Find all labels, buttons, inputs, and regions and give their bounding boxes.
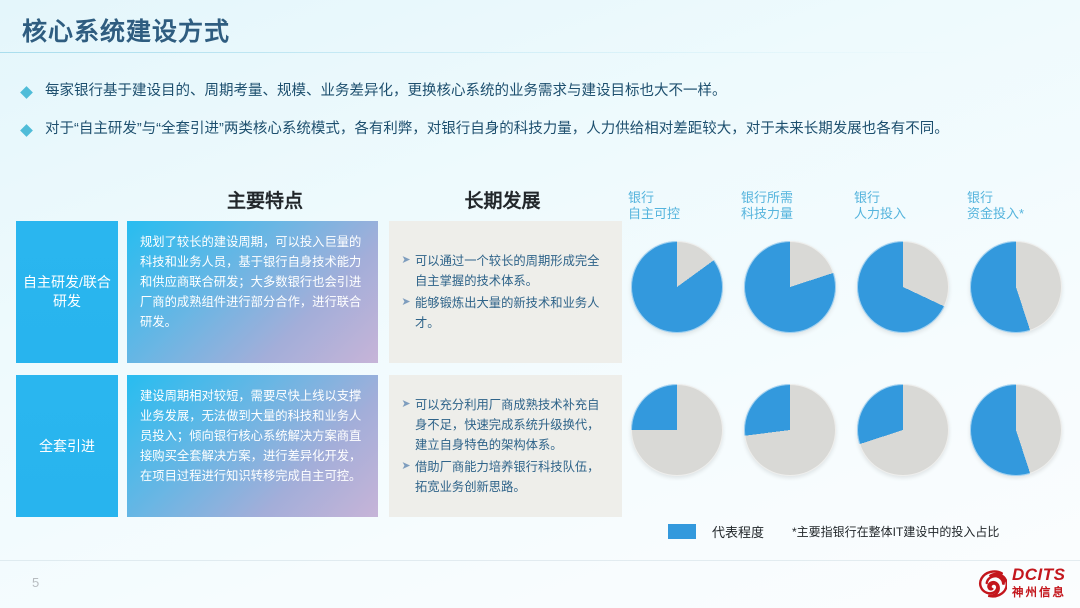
pie-row — [620, 241, 1072, 333]
comparison-table: 自主研发/联合研发 规划了较长的建设周期，可以投入巨量的科技和业务人员，基于银行… — [16, 221, 622, 529]
logo-en-text: DCITS — [1012, 565, 1066, 584]
row-longterm: ➤ 可以充分利用厂商成熟技术补充自身不足，快速完成系统升级换代，建立自身特色的架… — [389, 375, 622, 517]
page-number: 5 — [32, 575, 39, 590]
pie-column-header: 银行 人力投入 — [846, 190, 959, 223]
pie-chart — [970, 241, 1062, 333]
pie-chart — [631, 384, 723, 476]
list-item-text: 可以通过一个较长的周期形成完全自主掌握的技术体系。 — [415, 252, 610, 292]
list-item: ➤ 借助厂商能力培养银行科技队伍，拓宽业务创新思路。 — [397, 458, 610, 498]
pie-header-line2: 资金投入* — [967, 206, 1072, 222]
table-row: 全套引进 建设周期相对较短，需要尽快上线以支撑业务发展，无法做到大量的科技和业务… — [16, 375, 622, 517]
bullet-item: 对于“自主研发”与“全套引进”两类核心系统模式，各有利弊，对银行自身的科技力量，… — [22, 120, 1062, 138]
row-label: 自主研发/联合研发 — [16, 221, 118, 363]
bullet-item: 每家银行基于建设目的、周期考量、规模、业务差异化，更换核心系统的业务需求与建设目… — [22, 82, 1062, 100]
row-description: 建设周期相对较短，需要尽快上线以支撑业务发展，无法做到大量的科技和业务人员投入；… — [127, 375, 378, 517]
pie-chart — [631, 241, 723, 333]
diamond-bullet-icon — [20, 86, 33, 99]
pie-chart — [744, 241, 836, 333]
pie-header-line1: 银行 — [967, 190, 1072, 206]
pie-header-line2: 科技力量 — [741, 206, 846, 222]
pie-cell — [959, 241, 1072, 333]
pie-header-line2: 人力投入 — [854, 206, 959, 222]
list-item-text: 借助厂商能力培养银行科技队伍，拓宽业务创新思路。 — [415, 458, 610, 498]
row-label: 全套引进 — [16, 375, 118, 517]
arrow-bullet-icon: ➤ — [397, 294, 415, 312]
list-item-text: 能够锻炼出大量的新技术和业务人才。 — [415, 294, 610, 334]
row-description: 规划了较长的建设周期，可以投入巨量的科技和业务人员，基于银行自身技术能力和供应商… — [127, 221, 378, 363]
footer-divider — [0, 560, 1080, 561]
column-header-longterm: 长期发展 — [390, 186, 615, 213]
pie-cell — [846, 384, 959, 476]
column-header-features: 主要特点 — [145, 186, 385, 213]
pie-header-line2: 自主可控 — [628, 206, 733, 222]
pie-cell — [733, 241, 846, 333]
pie-header-line1: 银行 — [854, 190, 959, 206]
logo-cn-text: 神州信息 — [1012, 587, 1066, 599]
legend-note: *主要指银行在整体IT建设中的投入占比 — [792, 523, 999, 540]
pie-header-line1: 银行所需 — [741, 190, 846, 206]
legend-swatch-icon — [668, 524, 696, 539]
title-divider — [0, 52, 1080, 53]
list-item: ➤ 可以通过一个较长的周期形成完全自主掌握的技术体系。 — [397, 252, 610, 292]
pie-column-header: 银行 资金投入* — [959, 190, 1072, 223]
pie-chart — [970, 384, 1062, 476]
diamond-bullet-icon — [20, 124, 33, 137]
dcits-swirl-icon — [977, 568, 1007, 598]
pie-cell — [620, 241, 733, 333]
bullet-list: 每家银行基于建设目的、周期考量、规模、业务差异化，更换核心系统的业务需求与建设目… — [22, 82, 1062, 158]
legend-label: 代表程度 — [712, 522, 764, 541]
pie-cell — [846, 241, 959, 333]
pie-row — [620, 384, 1072, 476]
chart-legend: 代表程度 *主要指银行在整体IT建设中的投入占比 — [668, 522, 999, 541]
arrow-bullet-icon: ➤ — [397, 458, 415, 476]
pie-cell — [959, 384, 1072, 476]
list-item: ➤ 能够锻炼出大量的新技术和业务人才。 — [397, 294, 610, 334]
pie-chart — [744, 384, 836, 476]
page-title: 核心系统建设方式 — [22, 12, 230, 48]
arrow-bullet-icon: ➤ — [397, 396, 415, 414]
pie-column-headers: 银行 自主可控 银行所需 科技力量 银行 人力投入 银行 资金投入* — [620, 190, 1072, 223]
pie-chart — [857, 384, 949, 476]
list-item-text: 可以充分利用厂商成熟技术补充自身不足，快速完成系统升级换代，建立自身特色的架构体… — [415, 396, 610, 456]
logo-text: DCITS 神州信息 — [1012, 566, 1066, 600]
pie-column-header: 银行 自主可控 — [620, 190, 733, 223]
pie-column-header: 银行所需 科技力量 — [733, 190, 846, 223]
slide-root: 核心系统建设方式 每家银行基于建设目的、周期考量、规模、业务差异化，更换核心系统… — [0, 0, 1080, 608]
pie-cell — [733, 384, 846, 476]
bullet-text: 每家银行基于建设目的、周期考量、规模、业务差异化，更换核心系统的业务需求与建设目… — [45, 82, 727, 100]
row-longterm: ➤ 可以通过一个较长的周期形成完全自主掌握的技术体系。 ➤ 能够锻炼出大量的新技… — [389, 221, 622, 363]
arrow-bullet-icon: ➤ — [397, 252, 415, 270]
pie-cell — [620, 384, 733, 476]
bullet-text: 对于“自主研发”与“全套引进”两类核心系统模式，各有利弊，对银行自身的科技力量，… — [45, 120, 949, 138]
pie-chart — [857, 241, 949, 333]
table-row: 自主研发/联合研发 规划了较长的建设周期，可以投入巨量的科技和业务人员，基于银行… — [16, 221, 622, 363]
list-item: ➤ 可以充分利用厂商成熟技术补充自身不足，快速完成系统升级换代，建立自身特色的架… — [397, 396, 610, 456]
pie-header-line1: 银行 — [628, 190, 733, 206]
company-logo: DCITS 神州信息 — [977, 566, 1066, 600]
pie-chart-panel: 银行 自主可控 银行所需 科技力量 银行 人力投入 银行 资金投入* — [620, 190, 1072, 476]
